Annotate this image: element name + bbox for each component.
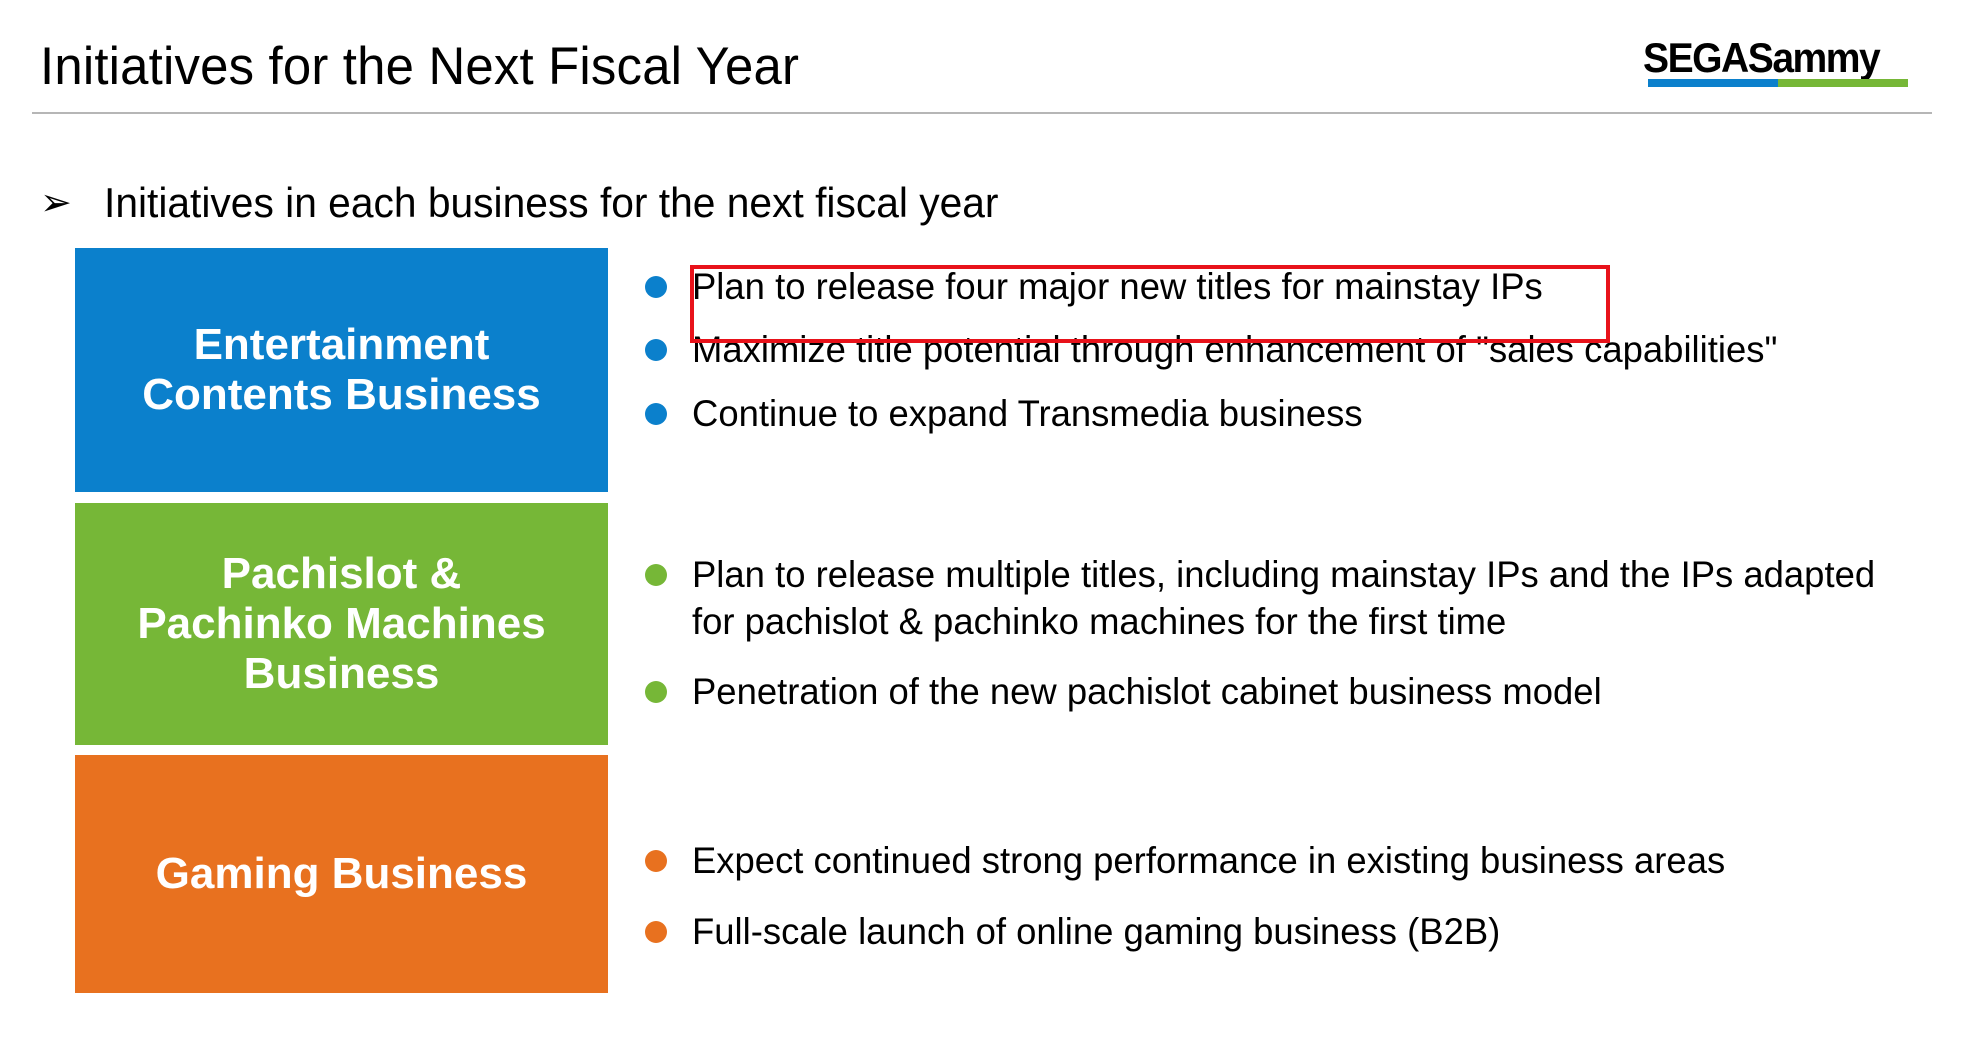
logo-green-bar [1778,79,1908,87]
bullet-list-pachislot: Plan to release multiple titles, includi… [645,551,1935,737]
bullet-dot-icon [645,403,667,425]
header-divider [32,112,1932,114]
section-box-label-pachislot: Pachislot & Pachinko Machines Business [125,549,557,698]
section-gaming: Gaming Business Expect continued strong … [0,755,1961,993]
subtitle-text: Initiatives in each business for the nex… [104,182,998,224]
page-title: Initiatives for the Next Fiscal Year [40,40,799,93]
bullet-dot-icon [645,564,667,586]
bullet-text: Plan to release multiple titles, includi… [692,551,1916,646]
logo-sega-text: SEGA [1643,34,1748,81]
bullet-dot-icon [645,850,667,872]
list-item: Penetration of the new pachislot cabinet… [645,668,1935,715]
subtitle-row: ➢ Initiatives in each business for the n… [40,178,1026,228]
logo-blue-bar [1648,79,1778,87]
list-item: Expect continued strong performance in e… [645,837,1935,884]
logo-wordmark: SEGASammy [1643,36,1913,80]
section-box-entertainment: Entertainment Contents Business [75,248,608,492]
section-box-label-entertainment: Entertainment Contents Business [130,320,553,419]
section-box-gaming: Gaming Business [75,755,608,993]
bullet-dot-icon [645,681,667,703]
bullet-list-gaming: Expect continued strong performance in e… [645,837,1935,980]
bullet-text: Continue to expand Transmedia business [692,390,1363,437]
arrow-bullet-icon: ➢ [40,184,82,222]
segasammy-logo: SEGASammy [1643,36,1933,92]
bullet-text: Expect continued strong performance in e… [692,837,1725,884]
slide-header: Initiatives for the Next Fiscal Year SEG… [0,0,1961,114]
bullet-text: Plan to release four major new titles fo… [692,263,1543,310]
section-box-label-gaming: Gaming Business [144,849,540,899]
bullet-dot-icon [645,276,667,298]
list-item: Full-scale launch of online gaming busin… [645,908,1935,955]
bullet-dot-icon [645,339,667,361]
list-item: Continue to expand Transmedia business [645,390,1935,437]
list-item: Plan to release multiple titles, includi… [645,551,1935,646]
logo-sammy-text: Sammy [1748,34,1880,81]
list-item: Plan to release four major new titles fo… [645,263,1935,310]
bullet-text: Penetration of the new pachislot cabinet… [692,668,1602,715]
section-box-pachislot: Pachislot & Pachinko Machines Business [75,503,608,745]
bullet-dot-icon [645,921,667,943]
section-entertainment-contents: Entertainment Contents Business Plan to … [0,248,1961,492]
section-pachislot-pachinko: Pachislot & Pachinko Machines Business P… [0,503,1961,745]
list-item: Maximize title potential through enhance… [645,326,1935,373]
bullet-text: Full-scale launch of online gaming busin… [692,908,1500,955]
bullet-list-entertainment: Plan to release four major new titles fo… [645,263,1935,453]
bullet-text: Maximize title potential through enhance… [692,326,1777,373]
